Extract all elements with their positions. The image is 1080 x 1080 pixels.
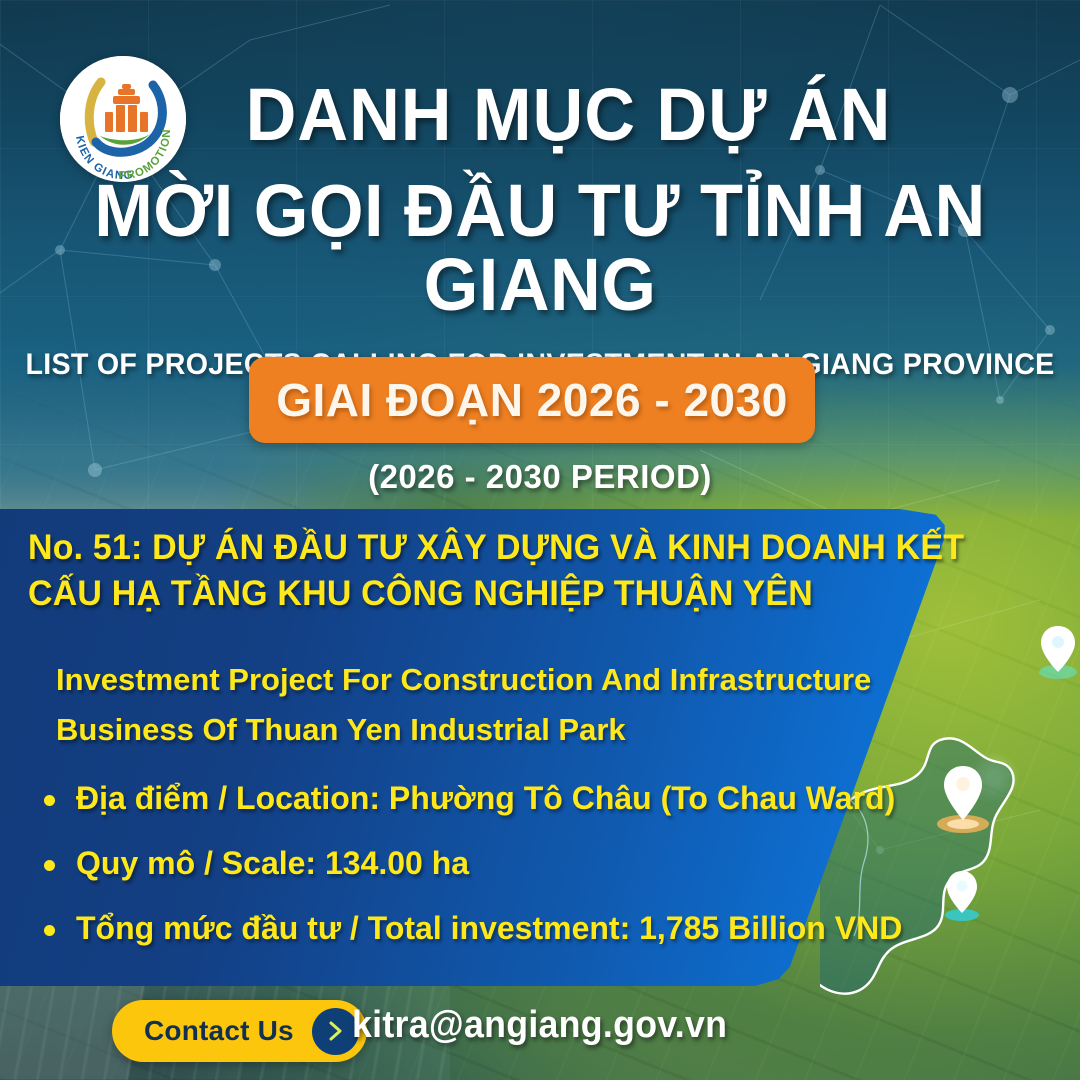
period-badge-label: GIAI ĐOẠN 2026 - 2030 [276, 373, 788, 427]
title-line-1: DANH MỤC DỰ ÁN [27, 78, 1053, 152]
contact-us-button[interactable]: Contact Us [112, 1000, 367, 1062]
contact-us-label: Contact Us [144, 1015, 294, 1047]
project-details-list: Địa điểm / Location: Phường Tô Châu (To … [38, 782, 1018, 977]
list-item: Quy mô / Scale: 134.00 ha [38, 847, 1018, 879]
poster-title-block: DANH MỤC DỰ ÁN MỜI GỌI ĐẦU TƯ TỈNH AN GI… [0, 78, 1080, 382]
project-title-english: Investment Project For Construction And … [56, 655, 956, 755]
contact-email[interactable]: kitra@angiang.gov.vn [352, 1004, 727, 1047]
period-english-label: (2026 - 2030 PERIOD) [0, 458, 1080, 496]
period-badge: GIAI ĐOẠN 2026 - 2030 [249, 357, 815, 443]
investment-project-poster: KIEN GIANG PROMOTION DANH MỤC DỰ ÁN MỜI … [0, 0, 1080, 1080]
list-item: Tổng mức đầu tư / Total investment: 1,78… [38, 912, 1018, 944]
title-line-2: MỜI GỌI ĐẦU TƯ TỈNH AN GIANG [27, 174, 1053, 322]
list-item: Địa điểm / Location: Phường Tô Châu (To … [38, 782, 1018, 814]
project-title-english-line-1: Investment Project For Construction And … [56, 655, 956, 705]
project-title-english-line-2: Business Of Thuan Yen Industrial Park [56, 705, 956, 755]
project-title-vietnamese: No. 51: DỰ ÁN ĐẦU TƯ XÂY DỰNG VÀ KINH DO… [28, 525, 998, 616]
map-pin-icon [1037, 622, 1079, 680]
